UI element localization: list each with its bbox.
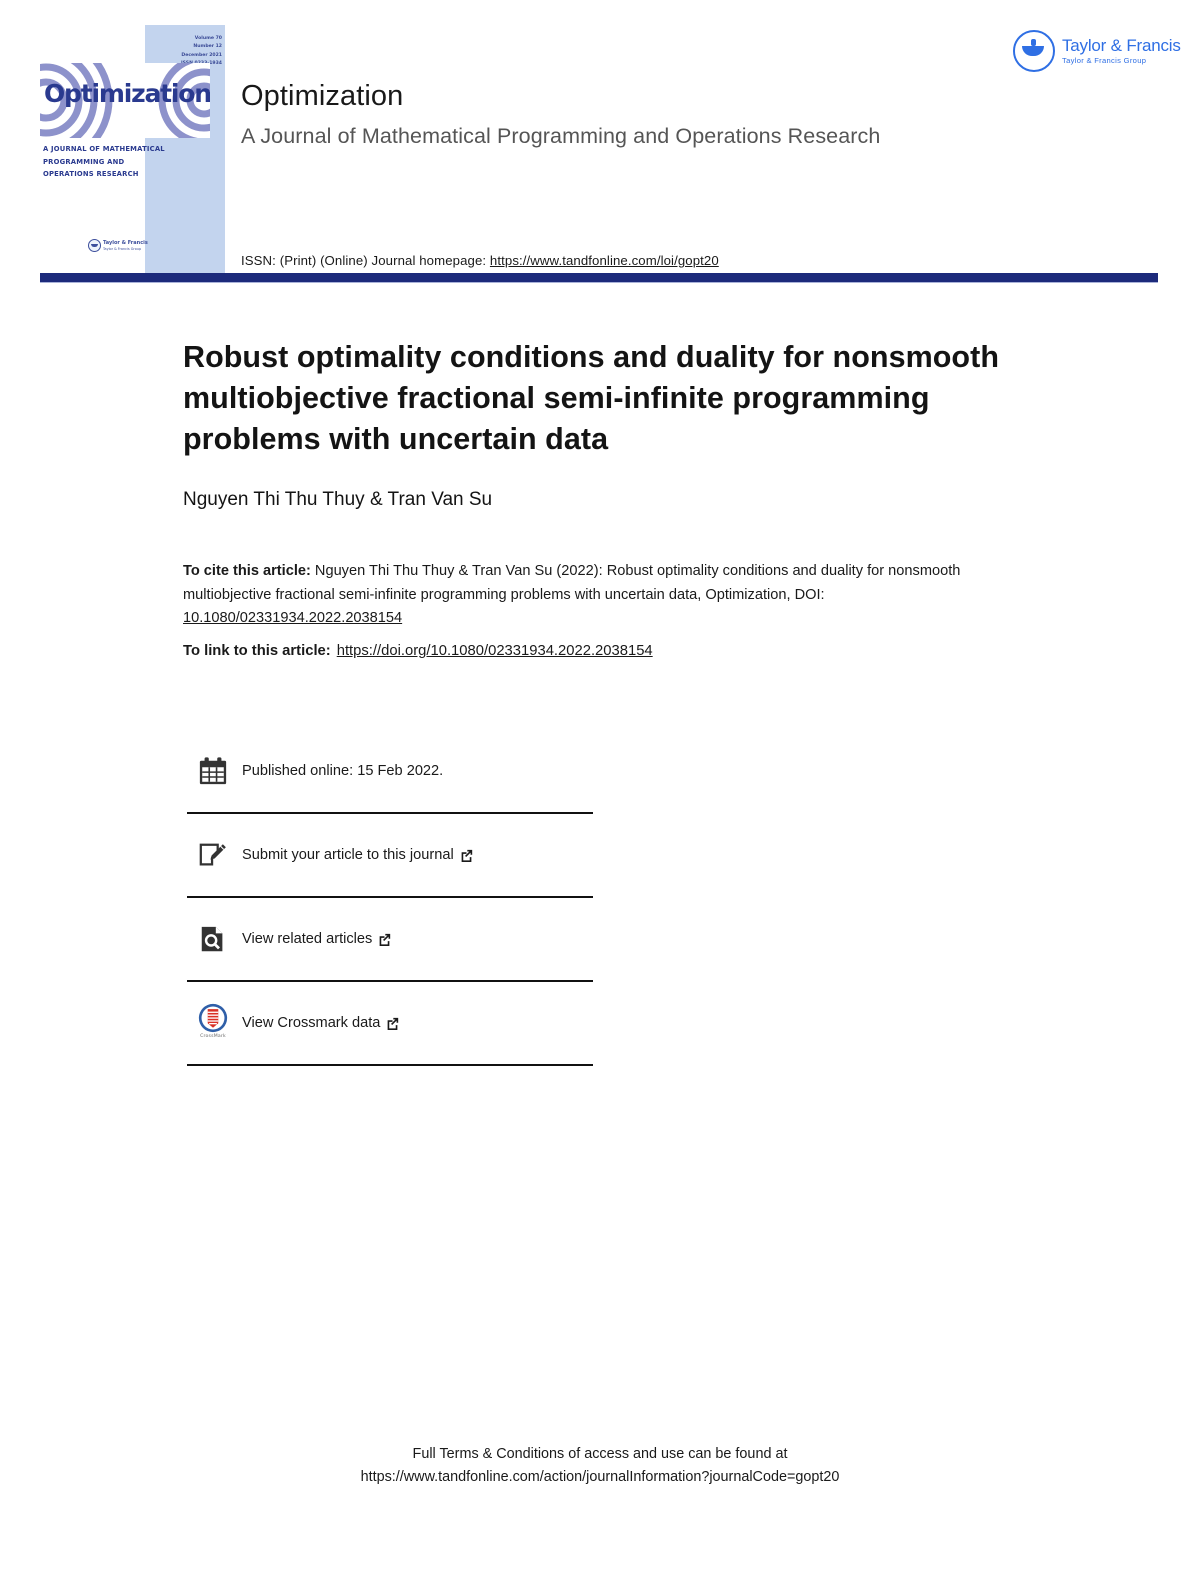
footer-terms-line: Full Terms & Conditions of access and us…	[0, 1443, 1200, 1466]
taylor-francis-mark-icon	[88, 239, 101, 252]
cover-logo-block: Optimization	[40, 63, 210, 138]
taylor-francis-emblem-icon	[1013, 30, 1055, 72]
submit-article-label: Submit your article to this journal	[242, 847, 473, 863]
issn-label: ISSN: (Print) (Online) Journal homepage:	[241, 253, 486, 268]
article-link-block: To link to this article:https://doi.org/…	[183, 643, 1011, 659]
journal-homepage-link[interactable]: https://www.tandfonline.com/loi/gopt20	[490, 253, 719, 268]
article-doi-link[interactable]: https://doi.org/10.1080/02331934.2022.20…	[337, 643, 653, 659]
journal-cover-image: Volume 70 Number 12 December 2021 ISSN 0…	[40, 25, 225, 273]
published-online-row: Published online: 15 Feb 2022.	[187, 730, 593, 812]
cover-publisher-group: Taylor & Francis Group	[103, 247, 148, 252]
header-divider	[40, 273, 1158, 283]
external-link-icon	[378, 933, 391, 946]
author-list: Nguyen Thi Thu Thuy & Tran Van Su	[183, 489, 492, 511]
external-link-icon	[386, 1017, 399, 1030]
cover-publisher-logo: Taylor & Francis Taylor & Francis Group	[88, 239, 148, 252]
citation-label: To cite this article:	[183, 563, 311, 579]
article-actions: Published online: 15 Feb 2022. Submit yo…	[187, 730, 593, 1066]
view-related-articles-row[interactable]: View related articles	[187, 896, 593, 980]
view-crossmark-label: View Crossmark data	[242, 1015, 399, 1031]
citation-doi-link[interactable]: 10.1080/02331934.2022.2038154	[183, 610, 402, 626]
crossmark-caption: CrossMark	[200, 1034, 226, 1039]
published-online-text: Published online: 15 Feb 2022.	[242, 763, 443, 779]
article-link-label: To link to this article:	[183, 643, 331, 659]
published-online-label: Published online: 15 Feb 2022.	[242, 763, 443, 779]
calendar-icon	[196, 754, 230, 788]
taylor-francis-logo: Taylor & Francis Taylor & Francis Group	[1013, 30, 1181, 72]
publisher-group: Taylor & Francis Group	[1062, 57, 1181, 66]
submit-article-text: Submit your article to this journal	[242, 847, 454, 863]
cover-meta-line: December 2021	[150, 52, 222, 60]
publisher-wordmark: Taylor & Francis Taylor & Francis Group	[1062, 36, 1181, 65]
cover-subtitle: A Journal of Mathematical Programming an…	[43, 143, 168, 181]
journal-name: Optimization	[241, 80, 403, 113]
journal-subtitle: A Journal of Mathematical Programming an…	[241, 124, 880, 149]
view-related-articles-label: View related articles	[242, 931, 391, 947]
footer-url-line: https://www.tandfonline.com/action/journ…	[0, 1466, 1200, 1489]
view-crossmark-row[interactable]: CrossMark View Crossmark data	[187, 980, 593, 1066]
citation-block: To cite this article: Nguyen Thi Thu Thu…	[183, 560, 1011, 631]
cover-meta-line: Number 12	[150, 43, 222, 51]
publisher-name: Taylor & Francis	[1062, 36, 1181, 55]
cover-meta-line: Volume 70	[150, 35, 222, 43]
submit-article-row[interactable]: Submit your article to this journal	[187, 812, 593, 896]
view-crossmark-text: View Crossmark data	[242, 1015, 380, 1031]
article-cover-page: Volume 70 Number 12 December 2021 ISSN 0…	[0, 0, 1200, 1576]
page-header: Volume 70 Number 12 December 2021 ISSN 0…	[0, 0, 1200, 286]
page-title: Robust optimality conditions and duality…	[183, 337, 1033, 459]
issn-and-homepage-line: ISSN: (Print) (Online) Journal homepage:…	[241, 253, 719, 268]
page-footer: Full Terms & Conditions of access and us…	[0, 1443, 1200, 1490]
cover-title: Optimization	[44, 81, 204, 106]
cover-publisher-label: Taylor & Francis	[103, 240, 148, 246]
view-related-articles-text: View related articles	[242, 931, 372, 947]
cover-publisher-name: Taylor & Francis Taylor & Francis Group	[103, 240, 148, 251]
view-related-articles-icon	[196, 922, 230, 956]
crossmark-icon: CrossMark	[196, 1003, 230, 1043]
submit-article-icon	[196, 838, 230, 872]
external-link-icon	[460, 849, 473, 862]
